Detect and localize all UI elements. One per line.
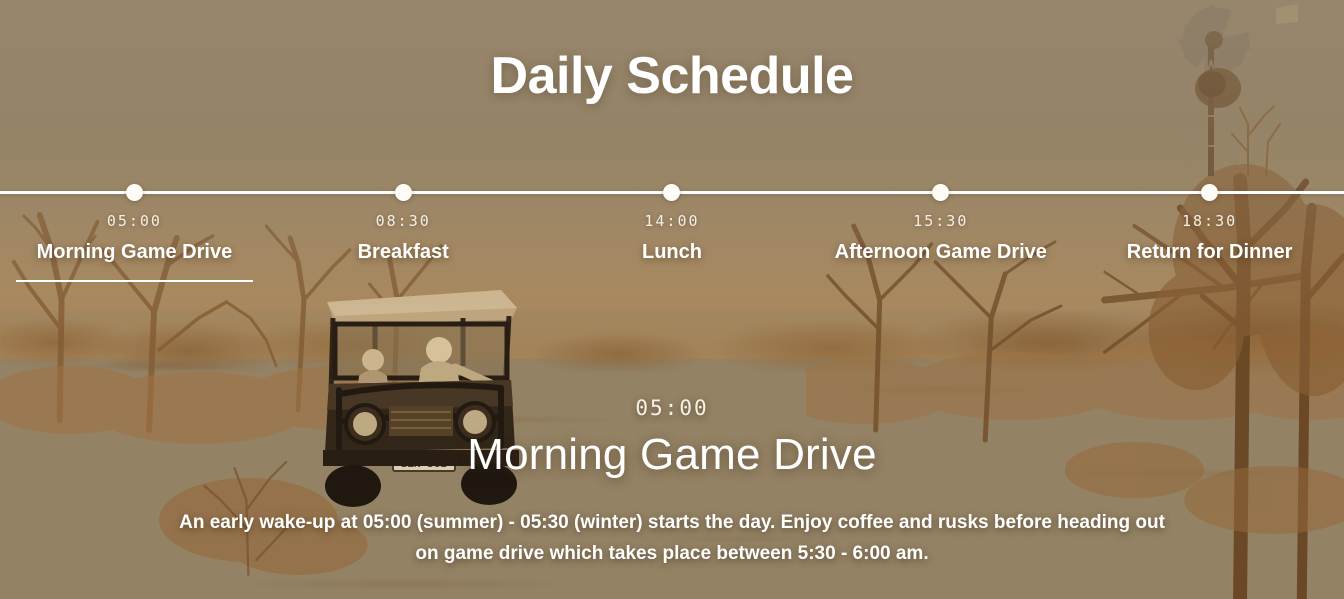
detail-title: Morning Game Drive <box>0 430 1344 480</box>
timeline-item-return-for-dinner[interactable]: 18:30 Return for Dinner <box>1075 184 1344 266</box>
timeline-item-label: Afternoon Game Drive <box>806 239 1075 266</box>
timeline-item-lunch[interactable]: 14:00 Lunch <box>538 184 807 266</box>
timeline-item-time: 08:30 <box>269 212 538 230</box>
schedule-timeline: 05:00 Morning Game Drive 08:30 Breakfast… <box>0 184 1344 266</box>
hero-content: Daily Schedule 05:00 Morning Game Drive … <box>0 0 1344 599</box>
timeline-item-label: Morning Game Drive <box>0 239 269 266</box>
detail-description: An early wake-up at 05:00 (summer) - 05:… <box>112 508 1232 570</box>
detail-time: 05:00 <box>0 396 1344 420</box>
timeline-item-time: 15:30 <box>806 212 1075 230</box>
timeline-item-breakfast[interactable]: 08:30 Breakfast <box>269 184 538 266</box>
timeline-item-label: Lunch <box>538 239 807 266</box>
timeline-dot-icon[interactable] <box>395 184 412 201</box>
timeline-dot-icon[interactable] <box>126 184 143 201</box>
daily-schedule-hero: BZN 382 <box>0 0 1344 599</box>
timeline-item-time: 14:00 <box>538 212 807 230</box>
timeline-active-underline <box>16 280 253 282</box>
timeline-item-time: 05:00 <box>0 212 269 230</box>
schedule-detail-panel: 05:00 Morning Game Drive An early wake-u… <box>0 396 1344 570</box>
timeline-dot-icon[interactable] <box>663 184 680 201</box>
timeline-item-label: Return for Dinner <box>1075 239 1344 266</box>
timeline-dot-icon[interactable] <box>1201 184 1218 201</box>
timeline-item-afternoon-game-drive[interactable]: 15:30 Afternoon Game Drive <box>806 184 1075 266</box>
page-title: Daily Schedule <box>0 46 1344 106</box>
timeline-items: 05:00 Morning Game Drive 08:30 Breakfast… <box>0 184 1344 266</box>
timeline-item-morning-game-drive[interactable]: 05:00 Morning Game Drive <box>0 184 269 266</box>
timeline-item-time: 18:30 <box>1075 212 1344 230</box>
timeline-dot-icon[interactable] <box>932 184 949 201</box>
timeline-item-label: Breakfast <box>269 239 538 266</box>
